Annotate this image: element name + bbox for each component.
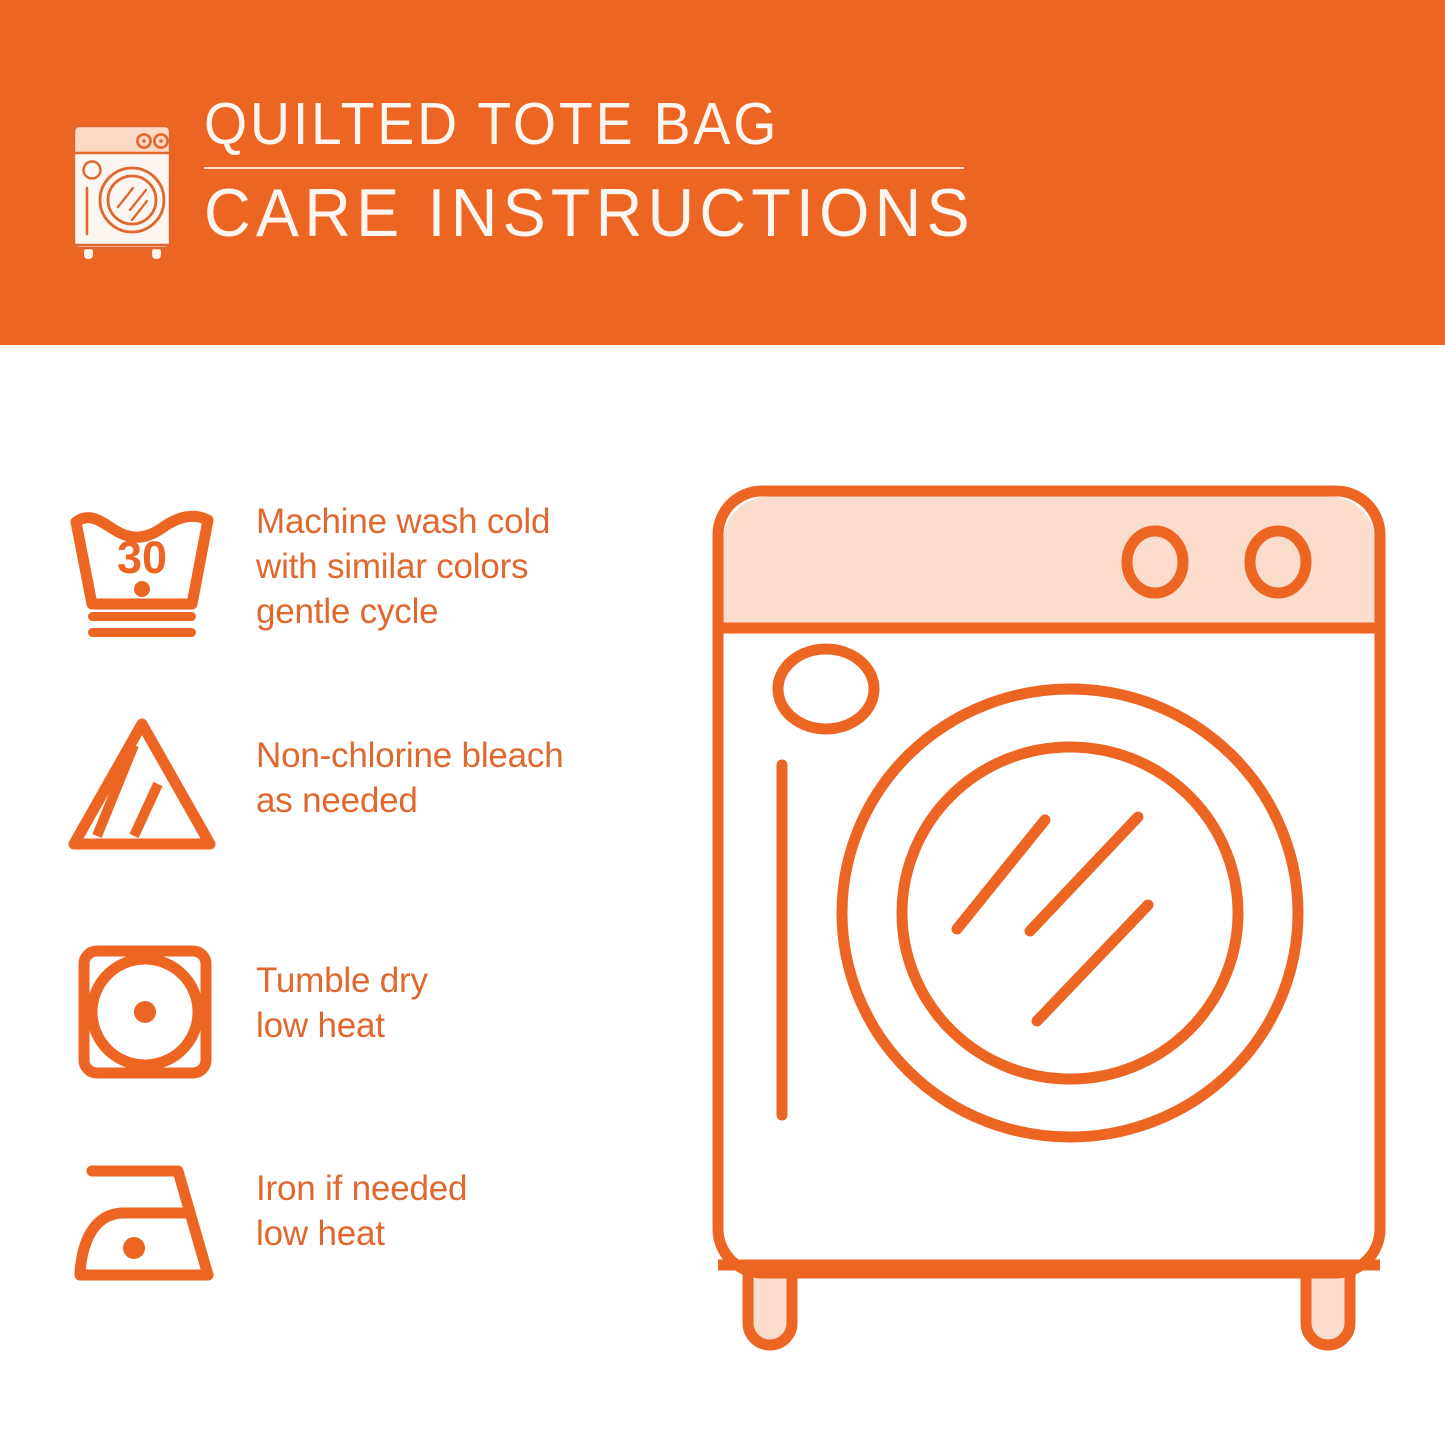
- care-instructions-page: QUILTED TOTE BAG CARE INSTRUCTIONS 30: [0, 0, 1445, 1445]
- care-item-tumble-dry-label: Tumble dry low heat: [256, 937, 428, 1049]
- machine-wash-30-gentle-icon: 30: [62, 500, 232, 650]
- care-item-bleach: Non-chlorine bleach as needed: [62, 710, 682, 860]
- care-text-line: as needed: [256, 779, 564, 824]
- care-text-line: low heat: [256, 1212, 467, 1257]
- care-text-line: Iron if needed: [256, 1167, 467, 1212]
- care-item-machine-wash: 30 Machine wash cold with similar colors…: [62, 500, 682, 650]
- care-text-line: Machine wash cold: [256, 500, 550, 545]
- washer-control-panel: [724, 496, 1375, 628]
- care-text-line: with similar colors: [256, 545, 550, 590]
- tumble-dry-low-heat-icon: [62, 937, 232, 1087]
- care-item-iron-label: Iron if needed low heat: [256, 1145, 467, 1257]
- non-chlorine-bleach-triangle-icon: [62, 710, 232, 860]
- page-title-primary: QUILTED TOTE BAG: [204, 94, 967, 156]
- care-instructions-list: 30 Machine wash cold with similar colors…: [0, 345, 700, 1445]
- iron-low-heat-icon: [62, 1145, 232, 1295]
- care-item-bleach-label: Non-chlorine bleach as needed: [256, 710, 564, 824]
- washing-machine-icon: [62, 100, 182, 260]
- header-banner: QUILTED TOTE BAG CARE INSTRUCTIONS: [0, 0, 1445, 345]
- care-item-machine-wash-label: Machine wash cold with similar colors ge…: [256, 500, 550, 634]
- page-title-secondary: CARE INSTRUCTIONS: [204, 179, 975, 248]
- care-text-line: gentle cycle: [256, 590, 550, 635]
- care-text-line: Tumble dry: [256, 959, 428, 1004]
- large-washing-machine-illustration: [700, 465, 1420, 1375]
- care-item-iron: Iron if needed low heat: [62, 1145, 682, 1295]
- care-text-line: low heat: [256, 1004, 428, 1049]
- header-content: QUILTED TOTE BAG CARE INSTRUCTIONS: [62, 92, 1382, 272]
- care-item-tumble-dry: Tumble dry low heat: [62, 937, 682, 1087]
- title-divider: [204, 167, 964, 169]
- care-text-line: Non-chlorine bleach: [256, 734, 564, 779]
- header-title-block: QUILTED TOTE BAG CARE INSTRUCTIONS: [204, 92, 1015, 248]
- wash-temperature-value: 30: [117, 532, 167, 583]
